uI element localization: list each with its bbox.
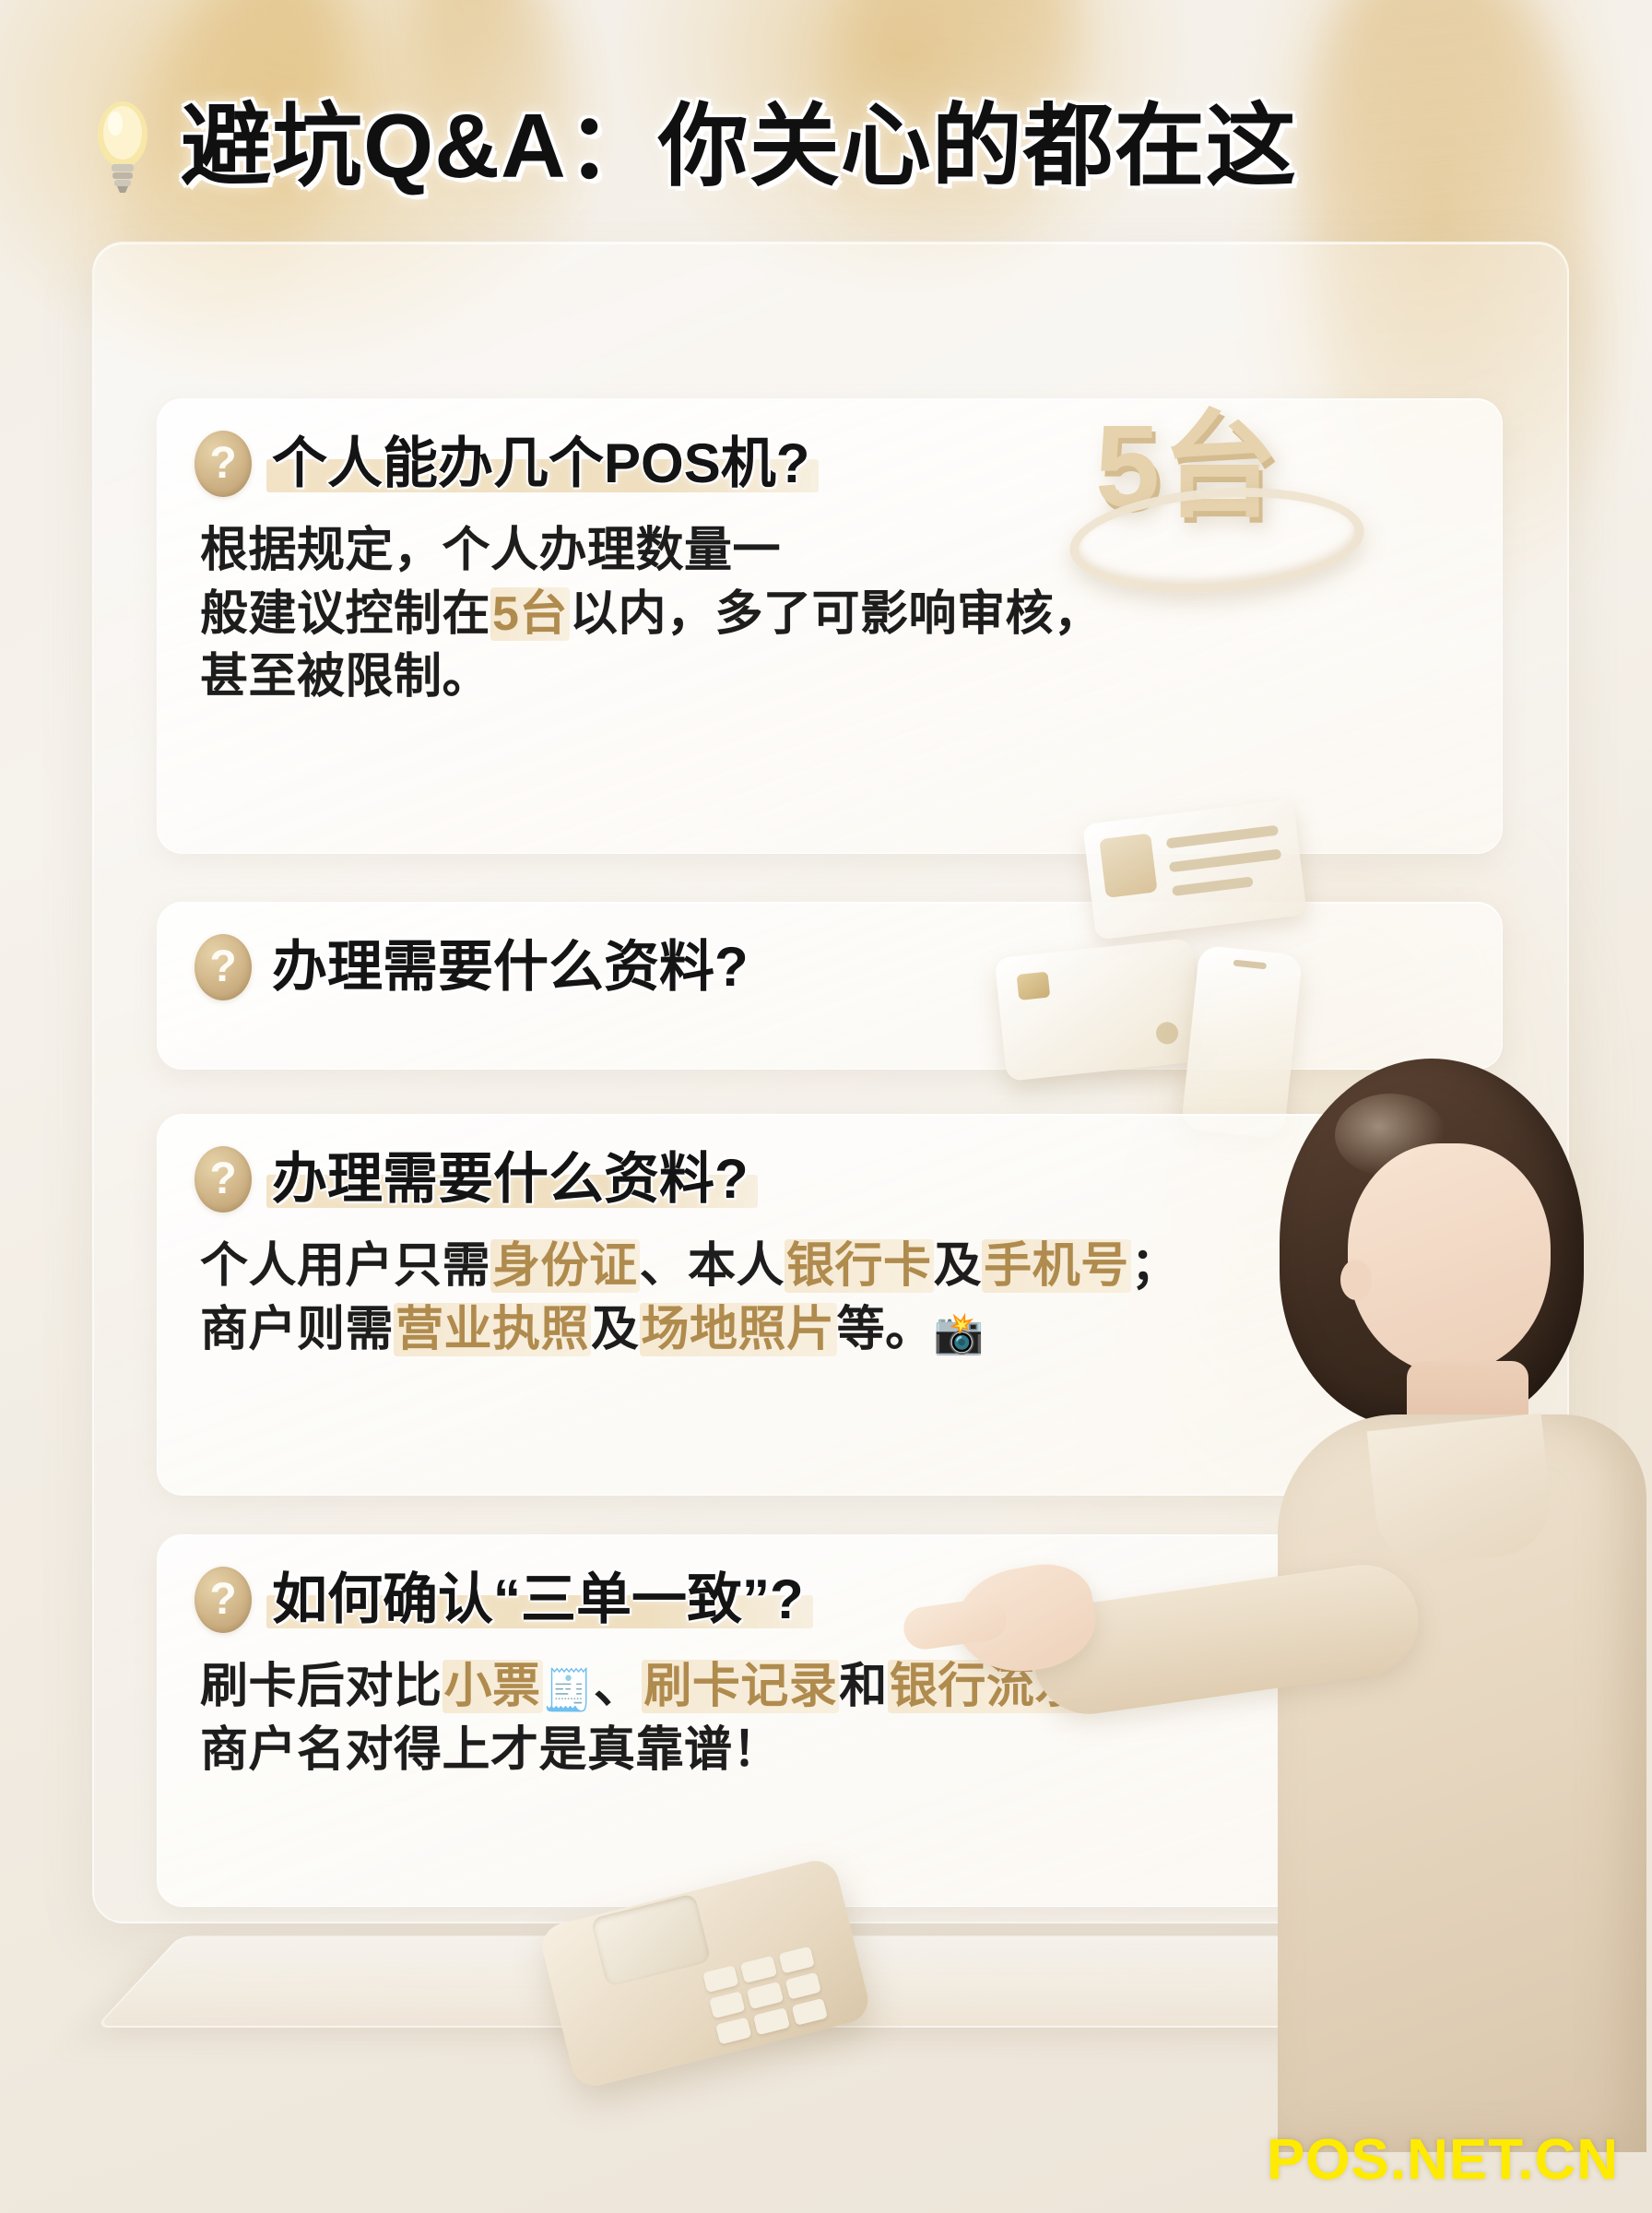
- question-text: 个人能办几个POS机?: [272, 433, 809, 494]
- answer-text: 般建议控制在: [200, 587, 490, 641]
- inline-emoji: 📸: [934, 1311, 985, 1356]
- question-mark-icon: ?: [195, 934, 252, 1000]
- answer-text: ，: [1085, 1660, 1134, 1713]
- answer-text: 甚至被限制。: [200, 650, 490, 704]
- question-row: ? 如何确认“三单一致”?: [195, 1559, 1465, 1640]
- answer-line: 般建议控制在5台以内，多了可影响审核，: [200, 583, 1465, 646]
- question-mark-icon: ?: [195, 1146, 252, 1213]
- highlighted-keyword: 营业执照: [394, 1303, 591, 1356]
- inline-emoji: 🧾: [543, 1668, 594, 1713]
- highlighted-keyword: 5台: [490, 587, 570, 641]
- watermark: POS.NET.CN: [1267, 2127, 1619, 2193]
- question-mark-icon: ?: [195, 1567, 252, 1633]
- poster-canvas: 避坑Q&A：你关心的都在这 ? 个人能办几个POS机? 根据规定，个人办理数量一…: [0, 0, 1652, 2213]
- question-text: 如何确认“三单一致”?: [272, 1569, 804, 1630]
- question-text: 办理需要什么资料?: [272, 1149, 749, 1210]
- highlighted-keyword: 小票: [442, 1660, 543, 1713]
- answer-body: 根据规定，个人办理数量一 般建议控制在5台以内，多了可影响审核， 甚至被限制。: [195, 519, 1465, 709]
- question-text-wrap: 办理需要什么资料?: [272, 937, 749, 998]
- highlighted-keyword: 身份证: [490, 1239, 640, 1293]
- answer-line: 根据规定，个人办理数量一: [200, 519, 1465, 583]
- highlighted-keyword: 银行卡: [785, 1239, 934, 1293]
- question-row: ? 办理需要什么资料?: [195, 1139, 1465, 1220]
- highlighted-keyword: 银行流水: [888, 1660, 1085, 1713]
- answer-line: 商户则需营业执照及场地照片等。📸: [200, 1298, 1465, 1362]
- highlighted-keyword: 刷卡记录: [642, 1660, 839, 1713]
- question-text-wrap: 个人能办几个POS机?: [272, 433, 809, 494]
- highlighted-keyword: 手机号: [982, 1239, 1131, 1293]
- answer-text: 等。: [837, 1303, 934, 1356]
- answer-text: 根据规定，个人办理数量一: [200, 524, 781, 577]
- answer-text: 及: [591, 1303, 640, 1356]
- answer-text: 和: [839, 1660, 888, 1713]
- qa-card[interactable]: ? 个人能办几个POS机? 根据规定，个人办理数量一 般建议控制在5台以内，多了…: [157, 398, 1503, 854]
- highlighted-keyword: 场地照片: [640, 1303, 837, 1356]
- qa-card[interactable]: ? 办理需要什么资料?: [157, 902, 1503, 1070]
- answer-line: 刷卡后对比小票🧾、刷卡记录和银行流水，: [200, 1655, 1465, 1719]
- answer-text: 及: [934, 1239, 983, 1293]
- answer-line: 甚至被限制。: [200, 645, 1465, 709]
- answer-text: ；: [1131, 1239, 1180, 1293]
- answer-body: 个人用户只需身份证、本人银行卡及手机号； 商户则需营业执照及场地照片等。📸: [195, 1235, 1465, 1361]
- qa-card[interactable]: ? 如何确认“三单一致”? 刷卡后对比小票🧾、刷卡记录和银行流水， 商户名对得上…: [157, 1534, 1503, 1907]
- question-mark-icon: ?: [195, 431, 252, 497]
- question-row: ? 办理需要什么资料?: [195, 927, 1465, 1008]
- page-title-text: 避坑Q&A：你关心的都在这: [181, 99, 1297, 194]
- glass-panel-base: [95, 1935, 1572, 2027]
- answer-text: 商户则需: [200, 1303, 394, 1356]
- answer-text: 商户名对得上才是真靠谱！: [200, 1723, 781, 1777]
- answer-text: 刷卡后对比: [200, 1660, 442, 1713]
- answer-text: 、本人: [640, 1239, 785, 1293]
- answer-line: 商户名对得上才是真靠谱！: [200, 1719, 1465, 1782]
- answer-body: 刷卡后对比小票🧾、刷卡记录和银行流水， 商户名对得上才是真靠谱！: [195, 1655, 1465, 1781]
- question-row: ? 个人能办几个POS机?: [195, 423, 1465, 504]
- lightbulb-icon: [88, 98, 157, 194]
- answer-text: 、: [594, 1660, 643, 1713]
- question-text: 办理需要什么资料?: [272, 937, 749, 998]
- qa-card[interactable]: ? 办理需要什么资料? 个人用户只需身份证、本人银行卡及手机号； 商户则需营业执…: [157, 1114, 1503, 1496]
- answer-text: 个人用户只需: [200, 1239, 490, 1293]
- question-text-wrap: 办理需要什么资料?: [272, 1149, 749, 1210]
- answer-text: 以内，多了可影响审核，: [570, 587, 1103, 641]
- answer-line: 个人用户只需身份证、本人银行卡及手机号；: [200, 1235, 1465, 1298]
- page-title: 避坑Q&A：你关心的都在这: [88, 90, 1582, 201]
- question-text-wrap: 如何确认“三单一致”?: [272, 1569, 804, 1630]
